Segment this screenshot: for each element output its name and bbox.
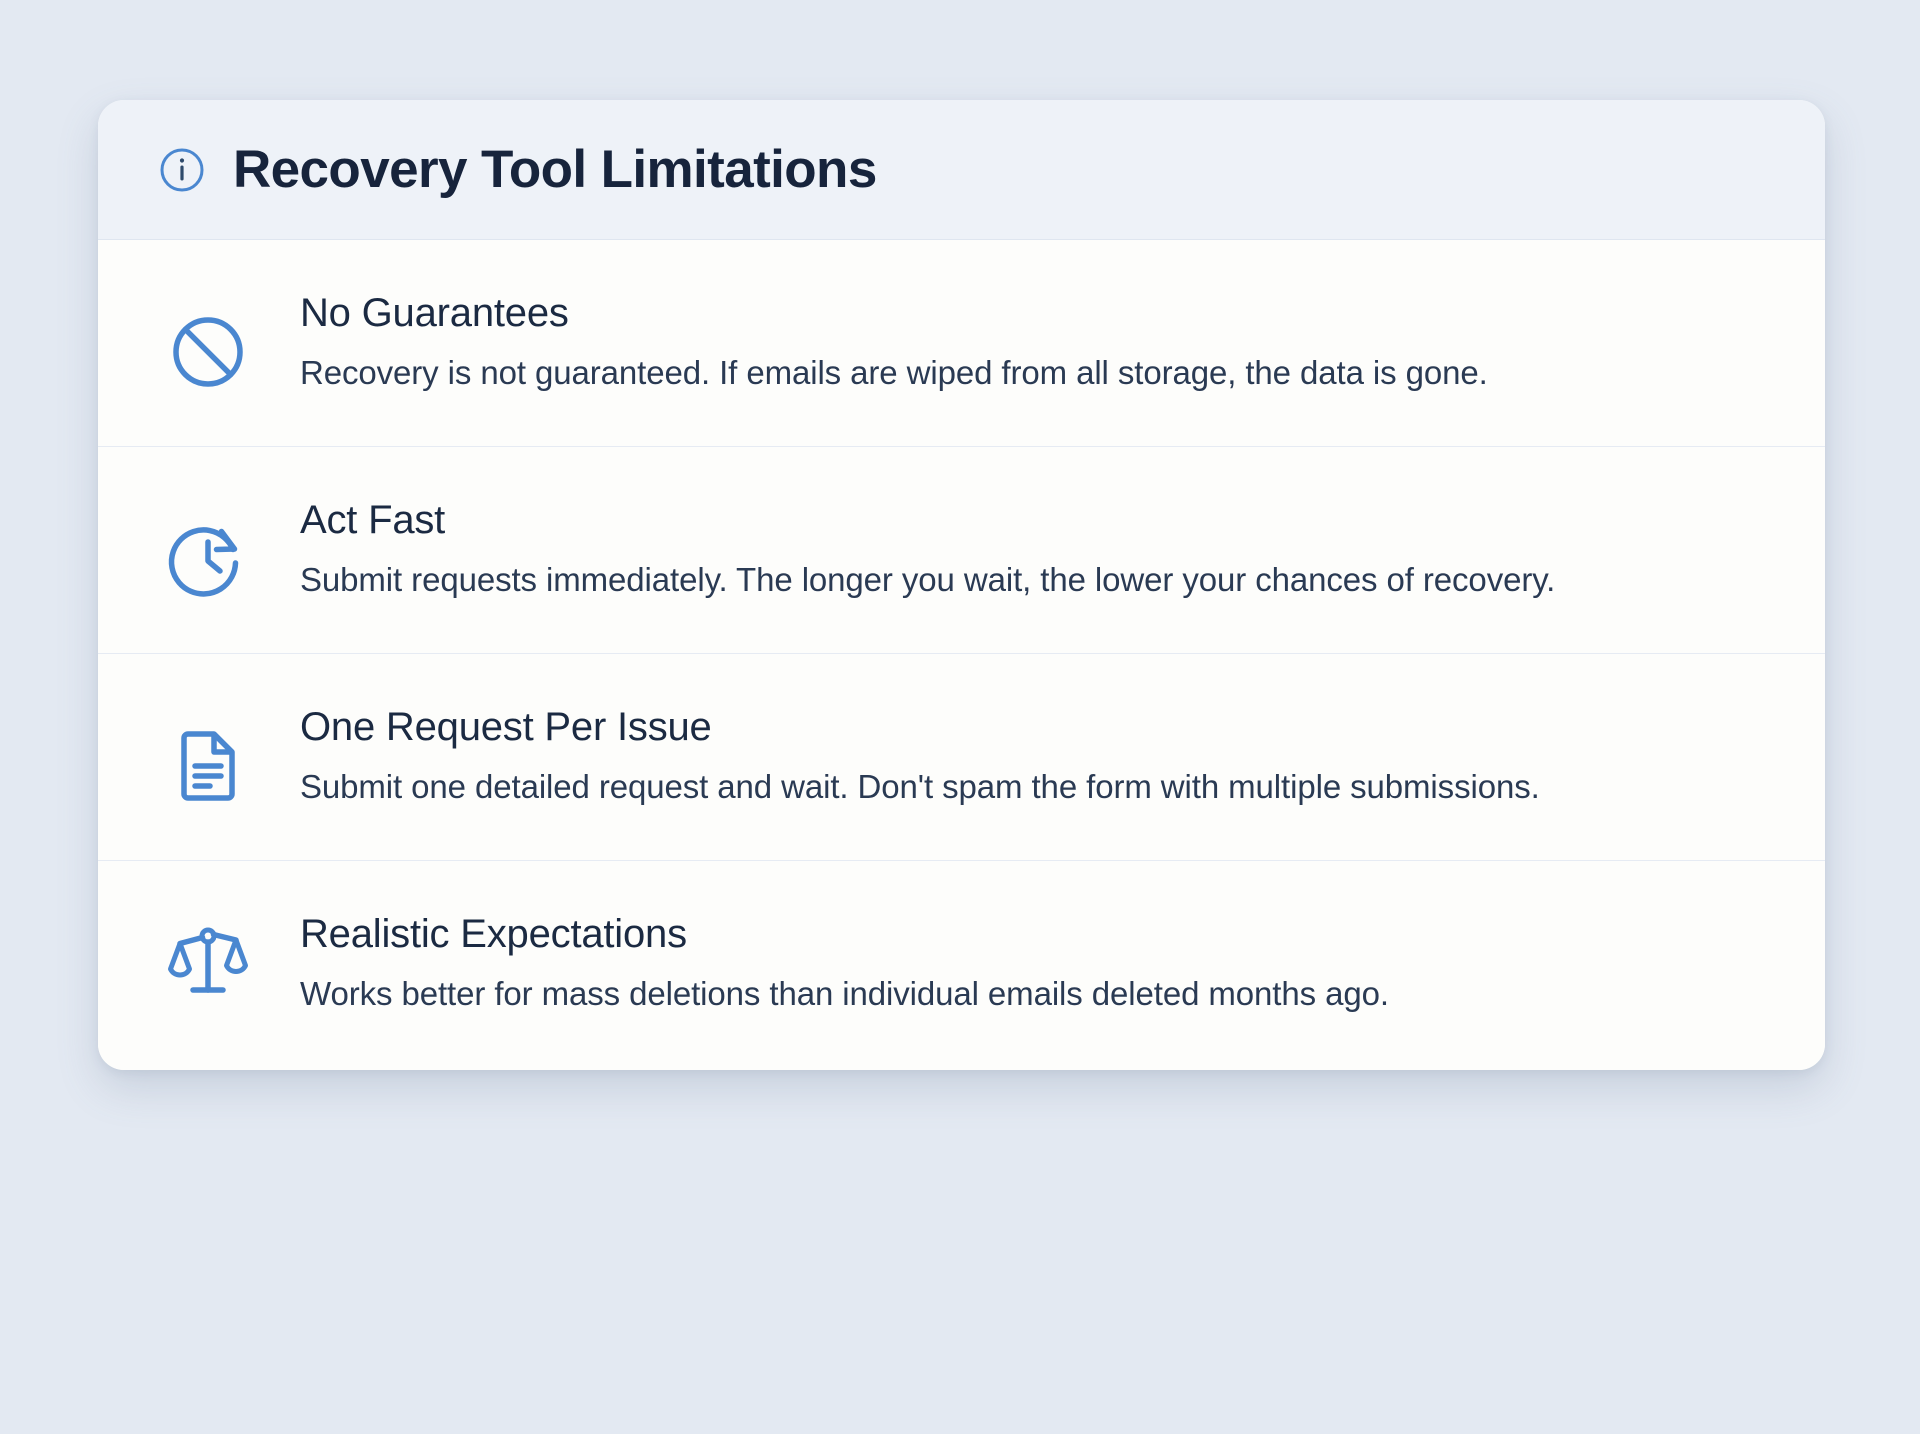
list-item-title: Act Fast: [300, 497, 1580, 543]
list-item-body: One Request Per Issue Submit one detaile…: [300, 700, 1580, 811]
page-title: Recovery Tool Limitations: [233, 143, 877, 196]
document-lines-icon: [160, 718, 256, 814]
list-item: One Request Per Issue Submit one detaile…: [98, 654, 1825, 861]
list-item-description: Recovery is not guaranteed. If emails ar…: [300, 350, 1580, 397]
list-item-body: No Guarantees Recovery is not guaranteed…: [300, 286, 1580, 397]
list-item-title: No Guarantees: [300, 290, 1580, 336]
limitations-list: No Guarantees Recovery is not guaranteed…: [98, 240, 1825, 1070]
recovery-tool-limitations-card: Recovery Tool Limitations No Guarantees …: [98, 100, 1825, 1070]
list-item-title: Realistic Expectations: [300, 911, 1580, 957]
list-item: Act Fast Submit requests immediately. Th…: [98, 447, 1825, 654]
list-item-body: Act Fast Submit requests immediately. Th…: [300, 493, 1580, 604]
clock-rotate-icon: [160, 511, 256, 607]
list-item-description: Submit requests immediately. The longer …: [300, 557, 1580, 604]
list-item-description: Works better for mass deletions than ind…: [300, 971, 1580, 1018]
list-item: No Guarantees Recovery is not guaranteed…: [98, 240, 1825, 447]
info-circle-icon: [158, 146, 206, 194]
list-item: Realistic Expectations Works better for …: [98, 861, 1825, 1070]
prohibition-sign-icon: [160, 304, 256, 400]
balance-scale-icon: [160, 913, 256, 1009]
card-header: Recovery Tool Limitations: [98, 100, 1825, 240]
list-item-title: One Request Per Issue: [300, 704, 1580, 750]
list-item-description: Submit one detailed request and wait. Do…: [300, 764, 1580, 811]
list-item-body: Realistic Expectations Works better for …: [300, 907, 1580, 1018]
